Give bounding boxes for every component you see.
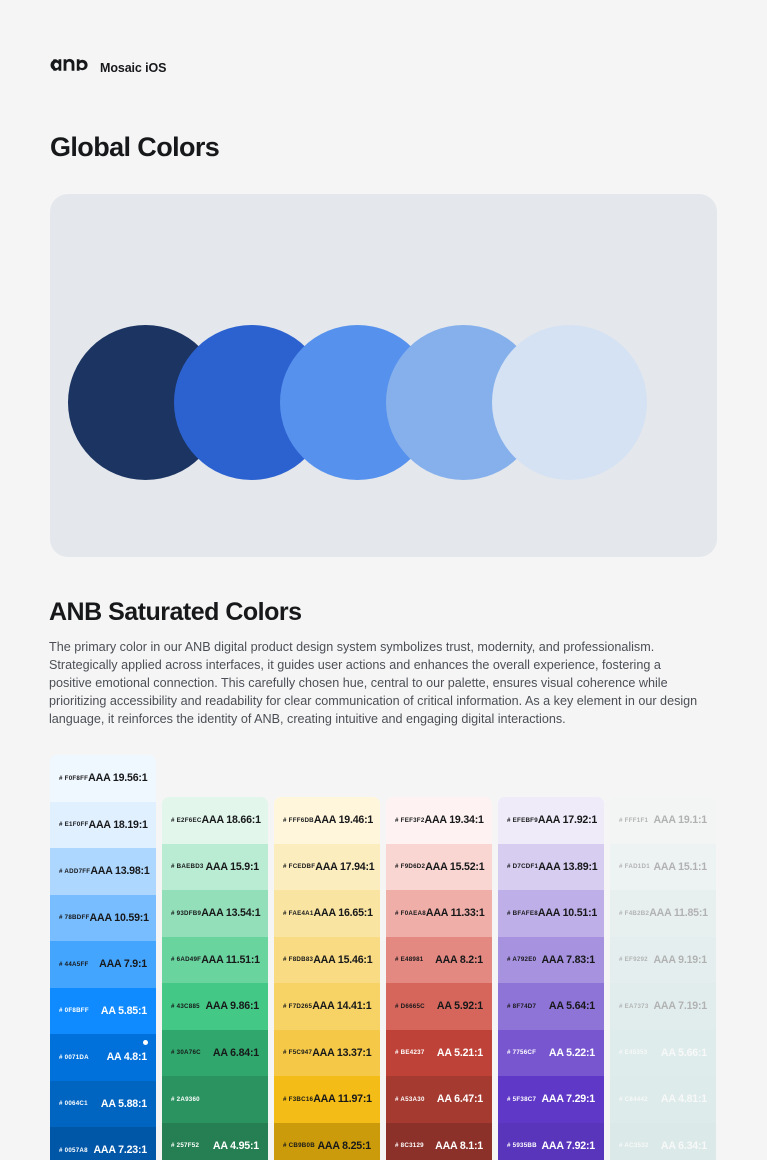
- color-swatch[interactable]: # 30A76CAA 6.84:1: [162, 1030, 268, 1077]
- swatch-hex-label: # CB9B0B: [283, 1142, 315, 1149]
- color-swatch[interactable]: # E1F0FFAAA 18.19:1: [50, 802, 156, 849]
- color-swatch[interactable]: # 5F38C7AAA 7.29:1: [498, 1076, 604, 1123]
- brand-name: Mosaic iOS: [100, 61, 166, 75]
- swatch-contrast-ratio: AA 4.8:1: [107, 1051, 147, 1063]
- swatch-contrast-ratio: AA 5.88:1: [101, 1098, 147, 1110]
- swatch-contrast-ratio: AAA 8.2:1: [435, 954, 483, 966]
- column-yellow: # FFF6DBAAA 19.46:1# FCEDBFAAA 17.94:1# …: [274, 797, 380, 1160]
- color-swatch[interactable]: # 0F8BFFAA 5.85:1: [50, 988, 156, 1035]
- color-swatch[interactable]: # 5935BBAAA 7.92:1: [498, 1123, 604, 1160]
- swatch-contrast-ratio: AAA 8.1:1: [435, 1140, 483, 1152]
- color-swatch[interactable]: # F5C947AAA 13.37:1: [274, 1030, 380, 1077]
- swatch-hex-label: # 0064C1: [59, 1100, 88, 1107]
- color-swatch[interactable]: # FFF1F1AAA 19.1:1: [610, 797, 716, 844]
- swatch-contrast-ratio: AA 6.34:1: [661, 1140, 707, 1152]
- color-swatch[interactable]: # FCEDBFAAA 17.94:1: [274, 844, 380, 891]
- swatch-contrast-ratio: AAA 15.52:1: [425, 861, 484, 873]
- color-swatch[interactable]: # EA7373AAA 7.19:1: [610, 983, 716, 1030]
- swatch-contrast-ratio: AAA 16.65:1: [314, 907, 373, 919]
- color-swatch[interactable]: # BAEBD3AAA 15.9:1: [162, 844, 268, 891]
- color-swatch[interactable]: # F4B2B2AAA 11.85:1: [610, 890, 716, 937]
- color-swatch[interactable]: # ADD7FFAAA 13.98:1: [50, 848, 156, 895]
- swatch-contrast-ratio: AA 6.84:1: [213, 1047, 259, 1059]
- color-swatch[interactable]: # 7756CFAA 5.22:1: [498, 1030, 604, 1077]
- color-swatch[interactable]: # E48981AAA 8.2:1: [386, 937, 492, 984]
- swatch-contrast-ratio: AAA 15.9:1: [205, 861, 259, 873]
- swatch-contrast-ratio: AAA 13.98:1: [90, 865, 149, 877]
- swatch-contrast-ratio: AA 6.47:1: [437, 1093, 483, 1105]
- color-swatch-grid: # F0F8FFAAA 19.56:1# E1F0FFAAA 18.19:1# …: [50, 755, 730, 1160]
- swatch-hex-label: # FEF3F2: [395, 817, 425, 824]
- swatch-contrast-ratio: AAA 18.19:1: [89, 819, 148, 831]
- swatch-hex-label: # D6665C: [395, 1003, 425, 1010]
- swatch-hex-label: # 93DFB9: [171, 910, 201, 917]
- swatch-contrast-ratio: AAA 13.54:1: [201, 907, 260, 919]
- swatch-hex-label: # F5C947: [283, 1049, 312, 1056]
- selected-indicator-dot-icon: [143, 1040, 148, 1045]
- color-swatch[interactable]: # BE4237AA 5.21:1: [386, 1030, 492, 1077]
- color-swatch[interactable]: # D7CDF1AAA 13.89:1: [498, 844, 604, 891]
- swatch-contrast-ratio: AA 5.85:1: [101, 1005, 147, 1017]
- swatch-contrast-ratio: AAA 13.89:1: [538, 861, 597, 873]
- swatch-hex-label: # BFAFE8: [507, 910, 538, 917]
- swatch-hex-label: # 44A5FF: [59, 961, 89, 968]
- swatch-hex-label: # F0AEA8: [395, 910, 426, 917]
- swatch-contrast-ratio: AAA 7.19:1: [653, 1000, 707, 1012]
- swatch-hex-label: # C84442: [619, 1096, 648, 1103]
- swatch-contrast-ratio: AAA 9.19:1: [653, 954, 707, 966]
- swatch-hex-label: # E1F0FF: [59, 821, 89, 828]
- color-swatch[interactable]: # E2F6ECAAA 18.66:1: [162, 797, 268, 844]
- swatch-contrast-ratio: AAA 7.83:1: [541, 954, 595, 966]
- color-swatch[interactable]: # 0057A8AAA 7.23:1: [50, 1127, 156, 1160]
- swatch-hex-label: # F0F8FF: [59, 775, 88, 782]
- swatch-contrast-ratio: AA 5.66:1: [661, 1047, 707, 1059]
- color-swatch[interactable]: # FAE4A1AAA 16.65:1: [274, 890, 380, 937]
- swatch-hex-label: # 8C3129: [395, 1142, 424, 1149]
- column-blue: # F0F8FFAAA 19.56:1# E1F0FFAAA 18.19:1# …: [50, 755, 156, 1160]
- column-teal-faded: # FFF1F1AAA 19.1:1# FAD1D1AAA 15.1:1# F4…: [610, 797, 716, 1160]
- swatch-hex-label: # FAD1D1: [619, 863, 650, 870]
- swatch-hex-label: # F4B2B2: [619, 910, 649, 917]
- swatch-hex-label: # ADD7FF: [59, 868, 90, 875]
- color-swatch[interactable]: # FFF6DBAAA 19.46:1: [274, 797, 380, 844]
- swatch-contrast-ratio: AA 4.95:1: [213, 1140, 259, 1152]
- color-swatch[interactable]: # 257F52AA 4.95:1: [162, 1123, 268, 1160]
- swatch-contrast-ratio: AAA 10.59:1: [90, 912, 149, 924]
- swatch-contrast-ratio: AAA 19.1:1: [653, 814, 707, 826]
- swatch-hex-label: # 30A76C: [171, 1049, 201, 1056]
- swatch-contrast-ratio: AAA 11.85:1: [649, 907, 708, 919]
- color-swatch[interactable]: # 43C885AAA 9.86:1: [162, 983, 268, 1030]
- swatch-contrast-ratio: AAA 19.46:1: [314, 814, 373, 826]
- swatch-contrast-ratio: AAA 11.51:1: [201, 954, 260, 966]
- anb-logo-icon: [50, 58, 90, 77]
- swatch-hex-label: # F3BC16: [283, 1096, 313, 1103]
- swatch-hex-label: # E48981: [395, 956, 424, 963]
- color-swatch[interactable]: # 6AD49FAAA 11.51:1: [162, 937, 268, 984]
- swatch-contrast-ratio: AAA 17.92:1: [538, 814, 597, 826]
- swatch-hex-label: # FFF6DB: [283, 817, 314, 824]
- swatch-contrast-ratio: AAA 7.23:1: [93, 1144, 147, 1156]
- column-green: # E2F6ECAAA 18.66:1# BAEBD3AAA 15.9:1# 9…: [162, 797, 268, 1160]
- color-swatch[interactable]: # CB9B0BAAA 8.25:1: [274, 1123, 380, 1160]
- swatch-hex-label: # EF9292: [619, 956, 648, 963]
- color-swatch[interactable]: # FAD1D1AAA 15.1:1: [610, 844, 716, 891]
- swatch-hex-label: # FFF1F1: [619, 817, 648, 824]
- swatch-contrast-ratio: AA 5.21:1: [437, 1047, 483, 1059]
- swatch-contrast-ratio: AAA 19.34:1: [425, 814, 484, 826]
- swatch-hex-label: # 5935BB: [507, 1142, 537, 1149]
- color-swatch[interactable]: # 8F74D7AA 5.64:1: [498, 983, 604, 1030]
- swatch-contrast-ratio: AAA 15.46:1: [313, 954, 372, 966]
- swatch-contrast-ratio: AA 5.92:1: [437, 1000, 483, 1012]
- swatch-hex-label: # F8DB83: [283, 956, 313, 963]
- swatch-hex-label: # 2A9360: [171, 1096, 200, 1103]
- color-swatch[interactable]: # BFAFE8AAA 10.51:1: [498, 890, 604, 937]
- color-swatch[interactable]: # AC3532AA 6.34:1: [610, 1123, 716, 1160]
- swatch-hex-label: # 7756CF: [507, 1049, 536, 1056]
- swatch-contrast-ratio: AA 5.22:1: [549, 1047, 595, 1059]
- swatch-contrast-ratio: AAA 17.94:1: [315, 861, 374, 873]
- color-swatch[interactable]: # F3BC16AAA 11.97:1: [274, 1076, 380, 1123]
- color-swatch[interactable]: # EF9292AAA 9.19:1: [610, 937, 716, 984]
- page-title: Global Colors: [50, 132, 219, 163]
- swatch-contrast-ratio: AAA 13.37:1: [312, 1047, 371, 1059]
- swatch-contrast-ratio: AA 4.81:1: [661, 1093, 707, 1105]
- swatch-hex-label: # A792E0: [507, 956, 536, 963]
- swatch-hex-label: # FCEDBF: [283, 863, 315, 870]
- swatch-hex-label: # 43C885: [171, 1003, 200, 1010]
- swatch-hex-label: # F7D265: [283, 1003, 312, 1010]
- swatch-hex-label: # A53A30: [395, 1096, 425, 1103]
- color-swatch[interactable]: # EFEBF9AAA 17.92:1: [498, 797, 604, 844]
- swatch-hex-label: # BAEBD3: [171, 863, 204, 870]
- swatch-contrast-ratio: AA 5.64:1: [549, 1000, 595, 1012]
- swatch-contrast-ratio: AAA 15.1:1: [653, 861, 707, 873]
- swatch-contrast-ratio: AAA 9.86:1: [205, 1000, 259, 1012]
- color-swatch[interactable]: # F0F8FFAAA 19.56:1: [50, 755, 156, 802]
- swatch-hex-label: # BE4237: [395, 1049, 425, 1056]
- swatch-hex-label: # EFEBF9: [507, 817, 538, 824]
- swatch-hex-label: # E2F6EC: [171, 817, 202, 824]
- swatch-contrast-ratio: AAA 7.29:1: [541, 1093, 595, 1105]
- color-swatch[interactable]: # 8C3129AAA 8.1:1: [386, 1123, 492, 1160]
- page-root: Mosaic iOS Global Colors ANB Saturated C…: [0, 0, 767, 1160]
- color-swatch[interactable]: # F0AEA8AAA 11.33:1: [386, 890, 492, 937]
- column-red: # FEF3F2AAA 19.34:1# F9D6D2AAA 15.52:1# …: [386, 797, 492, 1160]
- swatch-hex-label: # 8F74D7: [507, 1003, 536, 1010]
- color-swatch[interactable]: # F7D265AAA 14.41:1: [274, 983, 380, 1030]
- color-swatch[interactable]: # 2A9360: [162, 1076, 268, 1123]
- color-swatch[interactable]: # 78BDFFAAA 10.59:1: [50, 895, 156, 942]
- color-swatch[interactable]: # A53A30AA 6.47:1: [386, 1076, 492, 1123]
- circle-pale-blue: [492, 325, 647, 480]
- swatch-contrast-ratio: AAA 19.56:1: [88, 772, 147, 784]
- swatch-hex-label: # 5F38C7: [507, 1096, 536, 1103]
- color-swatch[interactable]: # D6665CAA 5.92:1: [386, 983, 492, 1030]
- swatch-contrast-ratio: AAA 11.33:1: [426, 907, 485, 919]
- column-purple: # EFEBF9AAA 17.92:1# D7CDF1AAA 13.89:1# …: [498, 797, 604, 1160]
- swatch-hex-label: # 6AD49F: [171, 956, 201, 963]
- color-swatch[interactable]: # FEF3F2AAA 19.34:1: [386, 797, 492, 844]
- swatch-contrast-ratio: AAA 10.51:1: [538, 907, 597, 919]
- section-title: ANB Saturated Colors: [49, 598, 302, 627]
- swatch-hex-label: # F9D6D2: [395, 863, 425, 870]
- swatch-hex-label: # 257F52: [171, 1142, 199, 1149]
- swatch-hex-label: # 0057A8: [59, 1147, 88, 1154]
- swatch-contrast-ratio: AAA 14.41:1: [312, 1000, 371, 1012]
- swatch-hex-label: # 78BDFF: [59, 914, 90, 921]
- color-swatch[interactable]: # A792E0AAA 7.83:1: [498, 937, 604, 984]
- global-colors-hero-panel: [50, 194, 717, 557]
- swatch-hex-label: # FAE4A1: [283, 910, 314, 917]
- swatch-hex-label: # 0071DA: [59, 1054, 89, 1061]
- color-swatch[interactable]: # 93DFB9AAA 13.54:1: [162, 890, 268, 937]
- brand-header: Mosaic iOS: [50, 58, 166, 77]
- color-swatch[interactable]: # 44A5FFAAA 7.9:1: [50, 941, 156, 988]
- swatch-contrast-ratio: AAA 7.9:1: [99, 958, 147, 970]
- section-description: The primary color in our ANB digital pro…: [49, 639, 705, 729]
- swatch-contrast-ratio: AAA 8.25:1: [317, 1140, 371, 1152]
- color-swatch[interactable]: # F9D6D2AAA 15.52:1: [386, 844, 492, 891]
- color-circles-group: [50, 194, 717, 557]
- color-swatch[interactable]: # E45353AA 5.66:1: [610, 1030, 716, 1077]
- color-swatch[interactable]: # 0064C1AA 5.88:1: [50, 1081, 156, 1128]
- swatch-hex-label: # E45353: [619, 1049, 648, 1056]
- color-swatch[interactable]: # F8DB83AAA 15.46:1: [274, 937, 380, 984]
- swatch-contrast-ratio: AAA 11.97:1: [313, 1093, 372, 1105]
- color-swatch[interactable]: # 0071DAAA 4.8:1: [50, 1034, 156, 1081]
- color-swatch[interactable]: # C84442AA 4.81:1: [610, 1076, 716, 1123]
- swatch-hex-label: # 0F8BFF: [59, 1007, 89, 1014]
- swatch-hex-label: # D7CDF1: [507, 863, 538, 870]
- swatch-hex-label: # EA7373: [619, 1003, 649, 1010]
- swatch-hex-label: # AC3532: [619, 1142, 649, 1149]
- swatch-contrast-ratio: AAA 7.92:1: [541, 1140, 595, 1152]
- swatch-contrast-ratio: AAA 18.66:1: [202, 814, 261, 826]
